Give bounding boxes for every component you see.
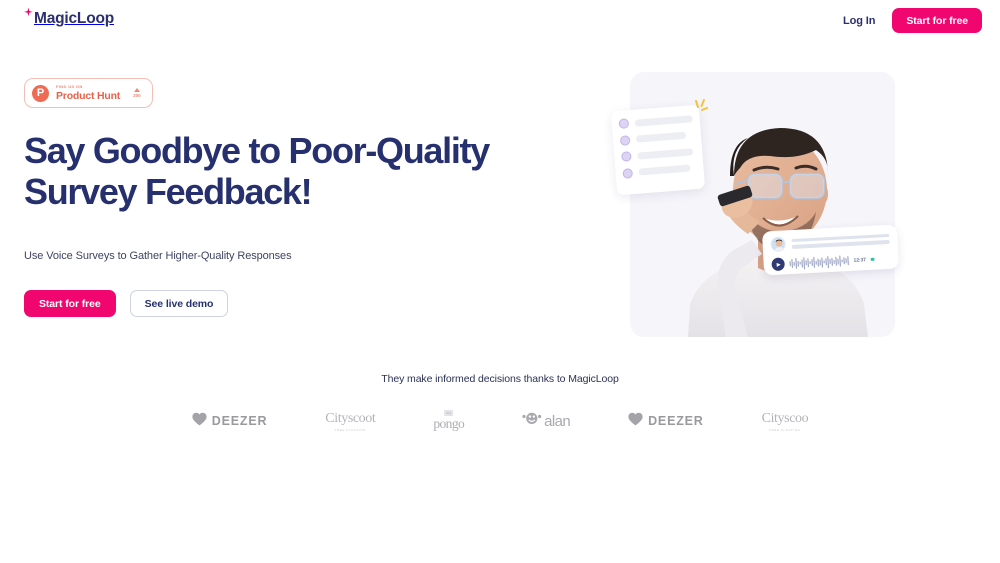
client-logo-label: Cityscoot [325,411,375,427]
product-hunt-icon: P [32,85,49,102]
client-logo-label: DEEZER [212,414,268,428]
sparkle-decoration-icon [692,98,714,118]
client-logo-cityscoot: Cityscoo FREE FLOATING [762,404,809,438]
product-hunt-name: Product Hunt [56,91,120,102]
alan-face-icon [522,412,542,431]
survey-checklist-card [611,105,705,196]
brand-logo[interactable]: MagicLoop [22,10,114,28]
product-hunt-badge[interactable]: P FIND US ON Product Hunt 200 [24,78,153,108]
social-proof-caption: They make informed decisions thanks to M… [0,373,1000,385]
client-logo-alan: alan [522,404,570,438]
product-hunt-votes: 200 [133,88,141,98]
checklist-placeholder-bar [637,148,693,159]
voice-card-text-lines [791,233,889,248]
header-start-free-button[interactable]: Start for free [892,8,982,33]
hero-subheadline: Use Voice Surveys to Gather Higher-Quali… [24,250,584,262]
online-status-dot [871,257,875,261]
checklist-bullet-icon [618,118,629,129]
client-logo-subtext: FREE FLOATING [335,428,366,432]
hero-headline: Say Goodbye to Poor-Quality Survey Feedb… [24,130,524,212]
product-hunt-pretext: FIND US ON [56,85,120,89]
site-header: MagicLoop Log In Start for free [0,0,1000,42]
audio-waveform [789,255,849,270]
deezer-heart-icon [628,412,643,431]
checklist-bullet-icon [621,151,632,162]
client-logo-label: Cityscoo [762,411,809,427]
checklist-row [618,113,693,129]
header-actions: Log In Start for free [843,8,982,33]
play-icon[interactable] [771,257,785,271]
client-logo-cityscoot: Cityscoot FREE FLOATING [325,404,375,438]
checklist-bullet-icon [620,135,631,146]
checklist-row [620,130,695,146]
client-logo-pongo: my pongo [433,404,464,438]
checklist-placeholder-bar [638,165,690,176]
voice-card-header [770,231,890,252]
deezer-heart-icon [192,412,207,431]
client-logo-label: pongo [433,416,464,432]
hero-see-demo-button[interactable]: See live demo [130,290,229,317]
hero-cta-row: Start for free See live demo [24,290,584,317]
checklist-placeholder-bar [636,132,686,143]
hero-start-free-button[interactable]: Start for free [24,290,116,317]
client-logo-subtext: FREE FLOATING [769,428,800,432]
triangle-up-icon [134,88,140,92]
brand-name: MagicLoop [34,10,114,28]
user-avatar [770,236,786,252]
login-link[interactable]: Log In [843,15,875,27]
voice-message-card[interactable]: 12:37 [762,224,899,275]
voice-timestamp: 12:37 [853,257,866,264]
voice-card-player: 12:37 [771,252,891,271]
client-logo-deezer: DEEZER [192,404,268,438]
client-logo-label: alan [544,413,570,430]
client-logo-label: DEEZER [648,414,704,428]
hero-content: P FIND US ON Product Hunt 200 Say Goodby… [24,78,584,317]
sparkle-icon [22,7,35,20]
checklist-row [622,163,697,179]
product-hunt-copy: FIND US ON Product Hunt [56,85,120,101]
checklist-placeholder-bar [635,115,693,127]
client-logo-strip: DEEZER Cityscoot FREE FLOATING my pongo [0,403,1000,439]
client-logo-deezer: DEEZER [628,404,704,438]
product-hunt-vote-count: 200 [133,94,141,99]
checklist-bullet-icon [622,168,633,179]
checklist-row [621,146,696,162]
